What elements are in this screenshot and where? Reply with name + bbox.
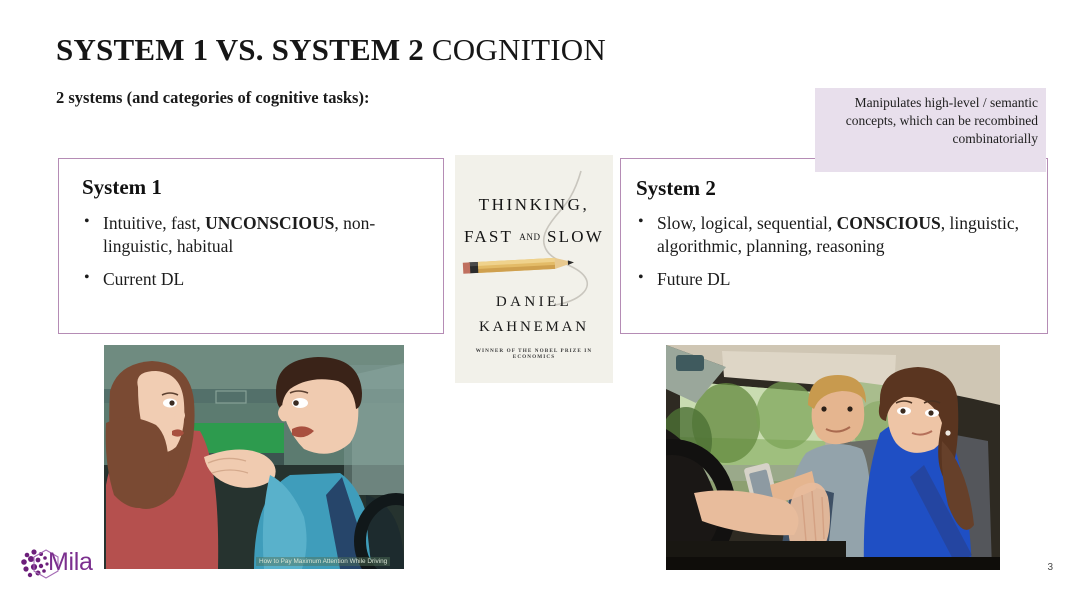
book-title-line-2: FAST AND SLOW	[455, 227, 613, 247]
bullet-text-strong: CONSCIOUS	[837, 213, 941, 233]
bullet-text-pre: Slow, logical, sequential,	[657, 213, 837, 233]
book-title-and: AND	[519, 232, 540, 242]
system-1-illustration: How to Pay Maximum Attention While Drivi…	[104, 345, 404, 569]
system-2-bullet-list: Slow, logical, sequential, CONSCIOUS, li…	[636, 212, 1048, 300]
page-title: SYSTEM 1 VS. SYSTEM 2 COGNITION	[56, 32, 606, 68]
system-2-heading: System 2	[636, 176, 716, 201]
book-title-slow: SLOW	[541, 227, 604, 246]
page-number: 3	[1047, 562, 1053, 573]
callout-box: Manipulates high-level / semantic concep…	[815, 88, 1046, 172]
system-1-heading: System 1	[82, 175, 162, 200]
system-2-illustration	[666, 345, 1000, 570]
car-argument-illustration	[104, 345, 404, 569]
mila-wordmark: Mila	[48, 548, 93, 577]
list-item: Slow, logical, sequential, CONSCIOUS, li…	[636, 212, 1048, 259]
book-author-line-2: KAHNEMAN	[455, 319, 613, 336]
image-watermark: How to Pay Maximum Attention While Drivi…	[256, 557, 390, 566]
book-title-fast: FAST	[464, 227, 519, 246]
list-item: Intuitive, fast, UNCONSCIOUS, non-lingui…	[82, 212, 432, 259]
book-author-line-1: DANIEL	[455, 294, 613, 311]
slide-canvas: SYSTEM 1 VS. SYSTEM 2 COGNITION 2 system…	[0, 0, 1080, 592]
bullet-text-pre: Intuitive, fast,	[103, 213, 205, 233]
bullet-text-pre: Current DL	[103, 269, 184, 289]
book-award-text: WINNER OF THE NOBEL PRIZE IN ECONOMICS	[455, 348, 613, 360]
page-title-bold: SYSTEM 1 VS. SYSTEM 2	[56, 32, 424, 67]
page-subtitle: 2 systems (and categories of cognitive t…	[56, 88, 369, 108]
book-title-line-1: THINKING,	[455, 195, 613, 215]
bullet-text-strong: UNCONSCIOUS	[205, 213, 334, 233]
book-cover-image: THINKING, FAST AND SLOW DANIEL KAHNEMAN …	[455, 155, 613, 383]
bullet-text-pre: Future DL	[657, 269, 730, 289]
list-item: Future DL	[636, 268, 1048, 291]
system-1-bullet-list: Intuitive, fast, UNCONSCIOUS, non-lingui…	[82, 212, 432, 300]
list-item: Current DL	[82, 268, 432, 291]
distracted-driving-photo	[666, 345, 1000, 570]
page-title-regular: COGNITION	[424, 32, 606, 67]
